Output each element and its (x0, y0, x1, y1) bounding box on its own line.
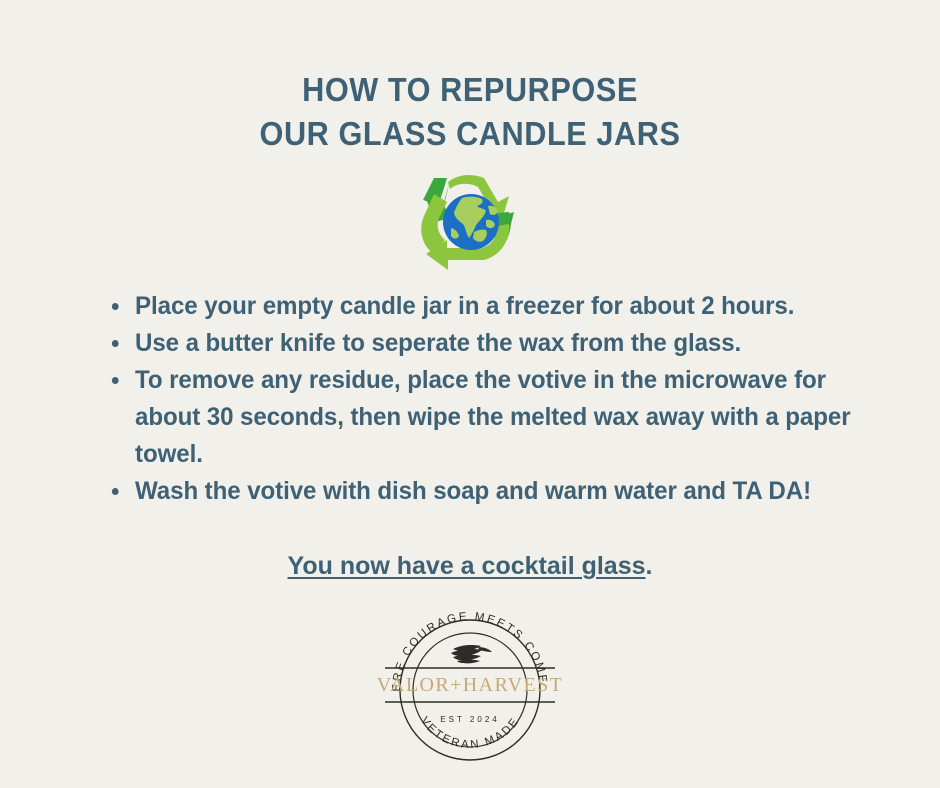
badge-wordmark: VALOR+HARVEST (377, 674, 563, 696)
step-text: Use a butter knife to seperate the wax f… (135, 329, 741, 357)
bullet-dot-icon (112, 303, 119, 310)
closing-period: . (646, 552, 653, 580)
bullet-dot-icon (112, 377, 119, 384)
list-item: Place your empty candle jar in a freezer… (108, 288, 880, 325)
step-text: Place your empty candle jar in a freezer… (135, 292, 794, 320)
title-line-1: HOW TO REPURPOSE (33, 68, 907, 112)
recycle-icon-container (0, 172, 940, 272)
list-item: Use a butter knife to seperate the wax f… (108, 325, 880, 362)
badge-established: EST 2024 (440, 715, 499, 724)
recycle-globe-icon (414, 172, 526, 272)
closing-statement: You now have a cocktail glass. (0, 549, 940, 583)
bullet-dot-icon (112, 340, 119, 347)
list-item: Wash the votive with dish soap and warm … (108, 473, 880, 510)
page-title: HOW TO REPURPOSE OUR GLASS CANDLE JARS (0, 68, 940, 156)
closing-underlined-text: You now have a cocktail glass (288, 552, 646, 580)
poster-canvas: HOW TO REPURPOSE OUR GLASS CANDLE JARS (0, 0, 940, 788)
wheat-sheaf-icon (451, 645, 492, 663)
valor-harvest-badge: WHERE COURAGE MEETS COMFORT VETERAN MADE… (377, 604, 563, 768)
list-item: To remove any residue, place the votive … (108, 362, 880, 473)
step-text: Wash the votive with dish soap and warm … (135, 477, 811, 505)
step-text: To remove any residue, place the votive … (135, 366, 850, 468)
title-line-2: OUR GLASS CANDLE JARS (33, 112, 907, 156)
logo-container: WHERE COURAGE MEETS COMFORT VETERAN MADE… (0, 604, 940, 768)
steps-list: Place your empty candle jar in a freezer… (108, 288, 908, 510)
bullet-dot-icon (112, 488, 119, 495)
